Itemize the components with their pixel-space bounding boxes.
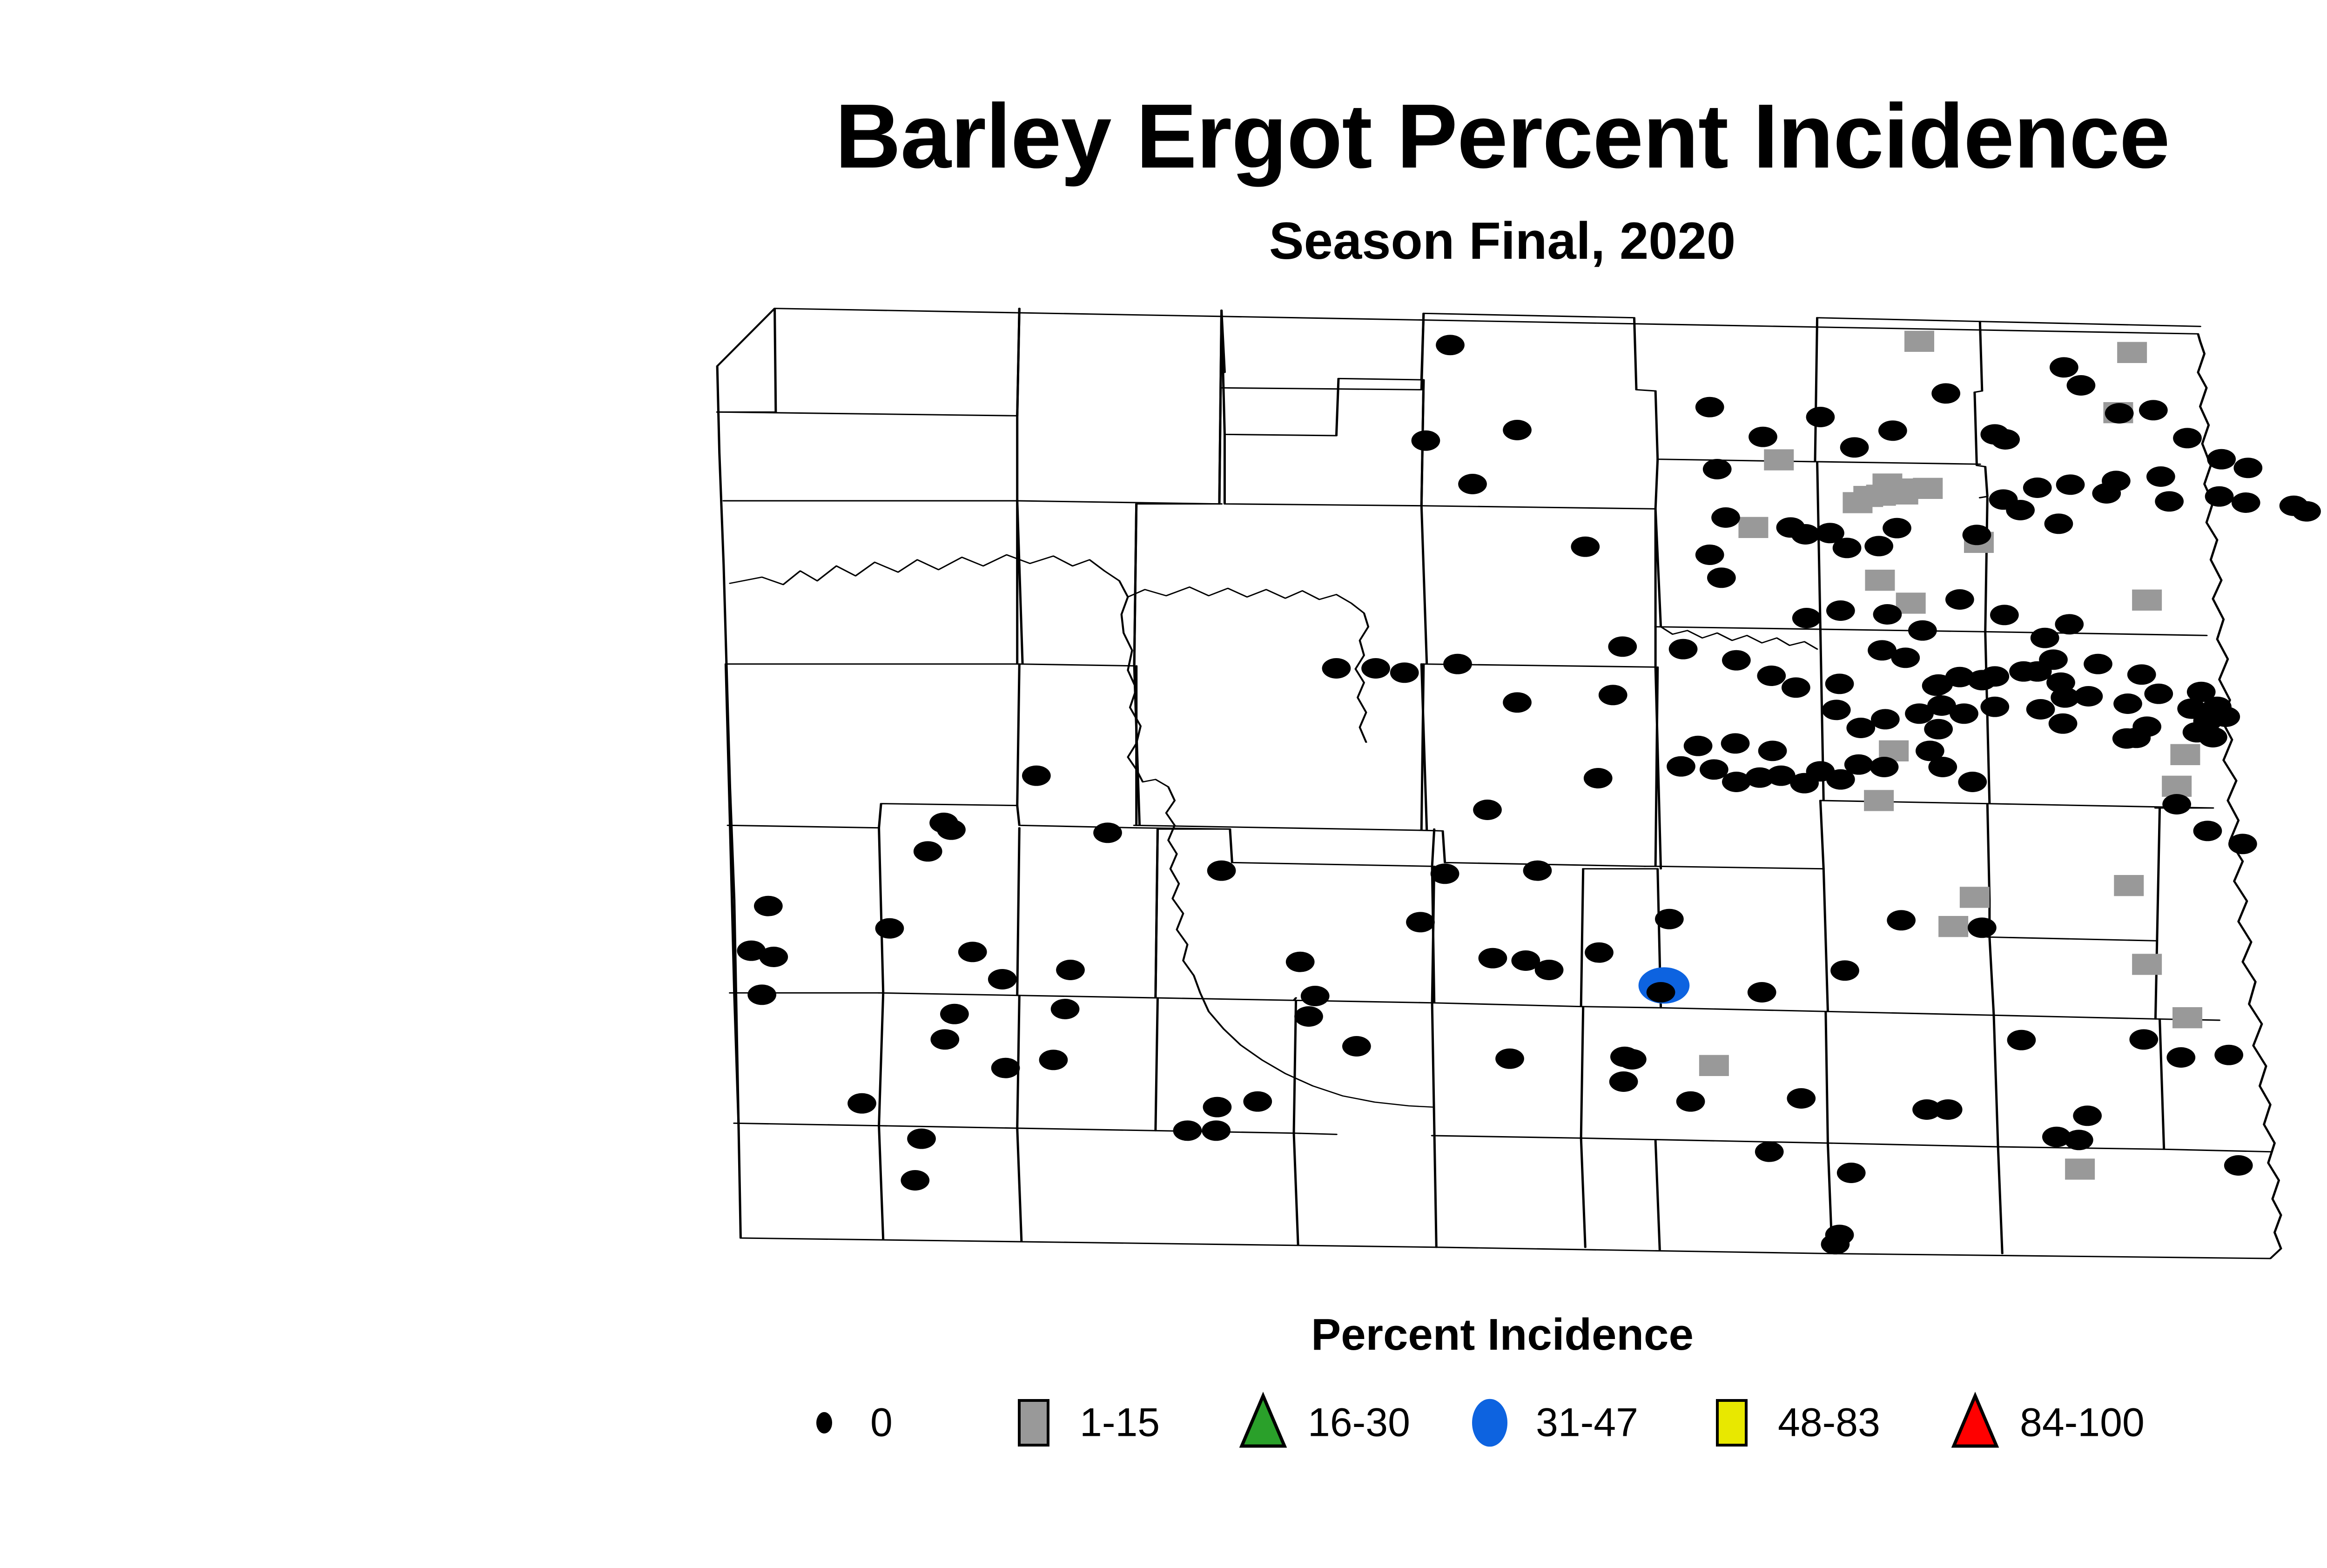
- map-marker: [1535, 960, 1564, 980]
- map-marker: [1093, 822, 1122, 843]
- map-marker: [1584, 768, 1613, 788]
- map-marker: [1711, 507, 1740, 528]
- map-marker: [2039, 649, 2068, 670]
- map-marker: [1873, 604, 1902, 625]
- map-marker: [1968, 917, 1997, 938]
- map-marker: [1791, 524, 1820, 545]
- map-marker: [875, 918, 904, 939]
- legend-label-31-47: 31-47: [1536, 1400, 1638, 1445]
- map-marker: [1757, 666, 1786, 686]
- map-marker: [1406, 912, 1435, 932]
- map-marker: [1822, 700, 1851, 720]
- map-marker: [2065, 1158, 2095, 1179]
- map-marker: [1431, 863, 1459, 884]
- map-marker: [1938, 916, 1968, 937]
- map-marker: [2132, 590, 2162, 611]
- map-marker: [2092, 483, 2121, 504]
- map-marker: [1322, 658, 1351, 679]
- map-marker: [1695, 397, 1724, 417]
- map-marker: [1479, 948, 1507, 969]
- map-marker: [747, 984, 776, 1005]
- map-marker: [2026, 699, 2055, 720]
- map-marker: [1173, 1120, 1202, 1141]
- map-marker: [1207, 861, 1236, 881]
- map-marker: [1758, 740, 1787, 761]
- map-marker: [1825, 673, 1854, 694]
- map-marker: [1412, 431, 1440, 451]
- map-marker: [1495, 1049, 1524, 1069]
- map-marker: [2155, 491, 2184, 511]
- map-marker: [1669, 639, 1698, 660]
- legend-symbol-0[interactable]: [816, 1412, 832, 1433]
- legend-symbol-1-15[interactable]: [1019, 1400, 1048, 1445]
- map-panel: [698, 279, 2327, 1285]
- map-marker: [1056, 960, 1085, 980]
- map-marker: [2132, 954, 2162, 975]
- map-marker: [1945, 667, 1974, 687]
- map-marker: [1523, 861, 1552, 881]
- map-marker: [1960, 887, 1990, 908]
- data-markers: [737, 331, 2320, 1255]
- map-marker: [2228, 834, 2257, 854]
- map-marker: [1864, 536, 1893, 556]
- map-marker: [2117, 342, 2147, 363]
- map-marker: [991, 1058, 1020, 1078]
- map-marker: [2006, 500, 2035, 520]
- map-marker: [1243, 1091, 1272, 1112]
- legend-label-1-15: 1-15: [1080, 1400, 1160, 1445]
- map-marker: [1647, 982, 1675, 1003]
- map-marker: [2113, 693, 2142, 714]
- map-marker: [1748, 982, 1776, 1003]
- map-marker: [1695, 545, 1724, 565]
- map-marker: [2207, 449, 2236, 470]
- map-marker: [1721, 733, 1750, 754]
- map-marker: [1806, 407, 1835, 427]
- map-marker: [1458, 474, 1487, 494]
- map-marker: [1837, 1163, 1866, 1183]
- map-marker: [1950, 703, 1978, 724]
- map-marker: [2166, 1047, 2195, 1068]
- map-marker: [2233, 458, 2262, 478]
- map-marker: [1980, 666, 2009, 686]
- map-marker: [2224, 1155, 2253, 1176]
- map-marker: [2211, 707, 2240, 727]
- map-marker: [1703, 459, 1732, 479]
- legend-title: Percent Incidence: [0, 1312, 2327, 1357]
- map-marker: [1294, 1006, 1323, 1027]
- map-marker: [2105, 403, 2134, 424]
- map-marker: [2127, 664, 2156, 685]
- map-marker: [2084, 654, 2112, 674]
- map-marker: [1913, 478, 1943, 499]
- map-marker: [901, 1170, 929, 1191]
- map-marker: [1924, 719, 1953, 740]
- map-marker: [1039, 1050, 1068, 1070]
- legend: 01-1516-3031-4748-8384-100: [791, 1380, 2280, 1464]
- map-marker: [2172, 1007, 2202, 1028]
- legend-label-84-100: 84-100: [2020, 1400, 2145, 1445]
- map-marker: [1676, 1091, 1705, 1112]
- map-marker: [1022, 766, 1051, 786]
- map-marker: [1846, 718, 1875, 738]
- map-marker: [1443, 654, 1472, 674]
- map-marker: [1342, 1036, 1371, 1057]
- map-marker: [1792, 608, 1821, 628]
- map-marker: [1764, 449, 1794, 470]
- map-marker: [2067, 375, 2096, 396]
- map-marker: [988, 969, 1017, 989]
- map-marker: [1843, 492, 1872, 513]
- map-marker: [2007, 1030, 2036, 1050]
- map-marker: [1904, 331, 1934, 352]
- map-marker: [914, 841, 942, 861]
- map-marker: [1891, 647, 1920, 668]
- map-marker: [1908, 620, 1937, 641]
- map-marker: [2193, 821, 2222, 841]
- map-marker: [1931, 383, 1960, 404]
- map-marker: [1361, 658, 1390, 679]
- map-marker: [1821, 1234, 1850, 1254]
- map-marker: [1202, 1120, 1231, 1141]
- map-marker: [2031, 628, 2059, 648]
- map-marker: [1755, 1142, 1784, 1162]
- map-marker: [1878, 420, 1907, 441]
- legend-symbol-48-83[interactable]: [1717, 1400, 1746, 1445]
- map-marker: [1833, 538, 1862, 558]
- map-marker: [1667, 756, 1695, 777]
- map-marker: [2170, 744, 2200, 765]
- map-marker: [2205, 486, 2234, 507]
- map-marker: [2214, 1045, 2243, 1065]
- legend-label-48-83: 48-83: [1778, 1400, 1880, 1445]
- map-marker: [1887, 910, 1916, 930]
- map-marker: [1203, 1097, 1232, 1117]
- map-marker: [1301, 986, 1330, 1006]
- legend-label-16-30: 16-30: [1308, 1400, 1410, 1445]
- map-marker: [1599, 685, 1628, 705]
- map-marker: [2132, 716, 2161, 737]
- map-marker: [1738, 517, 1768, 538]
- map-marker: [958, 942, 987, 962]
- map-marker: [1864, 790, 1894, 811]
- map-marker: [759, 947, 788, 967]
- map-marker: [1905, 703, 1934, 724]
- map-marker: [2009, 661, 2038, 682]
- map-marker: [2162, 776, 2192, 797]
- map-marker: [2292, 501, 2321, 522]
- map-marker: [2146, 466, 2175, 487]
- map-marker: [1618, 1049, 1647, 1070]
- map-marker: [1830, 960, 1859, 981]
- map-marker: [2139, 400, 2168, 420]
- map-marker: [1870, 757, 1899, 777]
- map-marker: [2144, 684, 2173, 704]
- map-marker: [1286, 952, 1315, 972]
- map-marker: [907, 1129, 936, 1149]
- legend-symbol-84-100[interactable]: [1954, 1396, 1997, 1446]
- map-marker: [1980, 697, 2009, 717]
- map-marker: [1473, 800, 1502, 820]
- map-marker: [2056, 474, 2085, 495]
- map-marker: [2232, 492, 2260, 513]
- map-marker: [1963, 525, 1991, 545]
- map-marker: [1865, 570, 1895, 591]
- map-marker: [940, 1004, 969, 1024]
- county-boundaries: [717, 309, 2281, 1258]
- map-marker: [2162, 794, 2191, 814]
- map-marker: [930, 1029, 959, 1050]
- map-marker: [1958, 772, 1987, 792]
- legend-symbol-16-30[interactable]: [1242, 1396, 1285, 1446]
- map-marker: [1722, 650, 1751, 671]
- map-marker: [937, 820, 966, 840]
- map-marker: [1991, 429, 2020, 450]
- map-marker: [1928, 757, 1957, 777]
- map-marker: [2065, 1130, 2093, 1150]
- map-marker: [1826, 600, 1855, 621]
- map-marker: [1390, 662, 1419, 683]
- map-marker: [1655, 909, 1684, 929]
- figure-canvas: Barley Ergot Percent Incidence Season Fi…: [0, 0, 2327, 1568]
- north-dakota-map: [698, 279, 2327, 1285]
- map-marker: [1782, 677, 1810, 698]
- map-marker: [2050, 357, 2078, 377]
- map-marker: [1707, 567, 1736, 588]
- map-marker: [2055, 614, 2084, 634]
- map-marker: [1872, 473, 1902, 494]
- map-marker: [1945, 589, 1974, 610]
- map-marker: [1503, 692, 1532, 713]
- map-marker: [1608, 636, 1637, 657]
- page-title: Barley Ergot Percent Incidence: [0, 91, 2327, 182]
- map-marker: [1609, 1071, 1638, 1092]
- map-marker: [2023, 478, 2052, 498]
- map-marker: [1436, 335, 1465, 355]
- page-subtitle: Season Final, 2020: [0, 215, 2327, 267]
- map-marker: [2129, 1029, 2158, 1050]
- map-marker: [2183, 722, 2212, 742]
- map-marker: [1844, 754, 1873, 775]
- map-marker: [1503, 420, 1532, 440]
- map-marker: [2074, 686, 2103, 707]
- map-marker: [1571, 537, 1600, 557]
- map-marker: [1699, 1055, 1729, 1076]
- map-marker: [1934, 1099, 1963, 1120]
- map-marker: [1749, 427, 1777, 447]
- map-marker: [2049, 713, 2078, 734]
- map-marker: [1585, 942, 1614, 963]
- map-marker: [2073, 1105, 2102, 1126]
- map-marker: [1840, 437, 1869, 458]
- map-marker: [1684, 736, 1713, 756]
- map-marker: [847, 1093, 876, 1114]
- map-marker: [2045, 513, 2073, 534]
- map-marker: [1871, 709, 1900, 729]
- map-marker: [2114, 875, 2144, 896]
- map-marker: [2173, 428, 2202, 448]
- legend-symbol-31-47[interactable]: [1472, 1399, 1507, 1447]
- map-marker: [1883, 518, 1911, 538]
- map-marker: [1787, 1088, 1816, 1109]
- map-marker: [1990, 605, 2019, 625]
- legend-label-0: 0: [870, 1400, 893, 1445]
- map-marker: [754, 896, 783, 916]
- map-marker: [1051, 999, 1080, 1019]
